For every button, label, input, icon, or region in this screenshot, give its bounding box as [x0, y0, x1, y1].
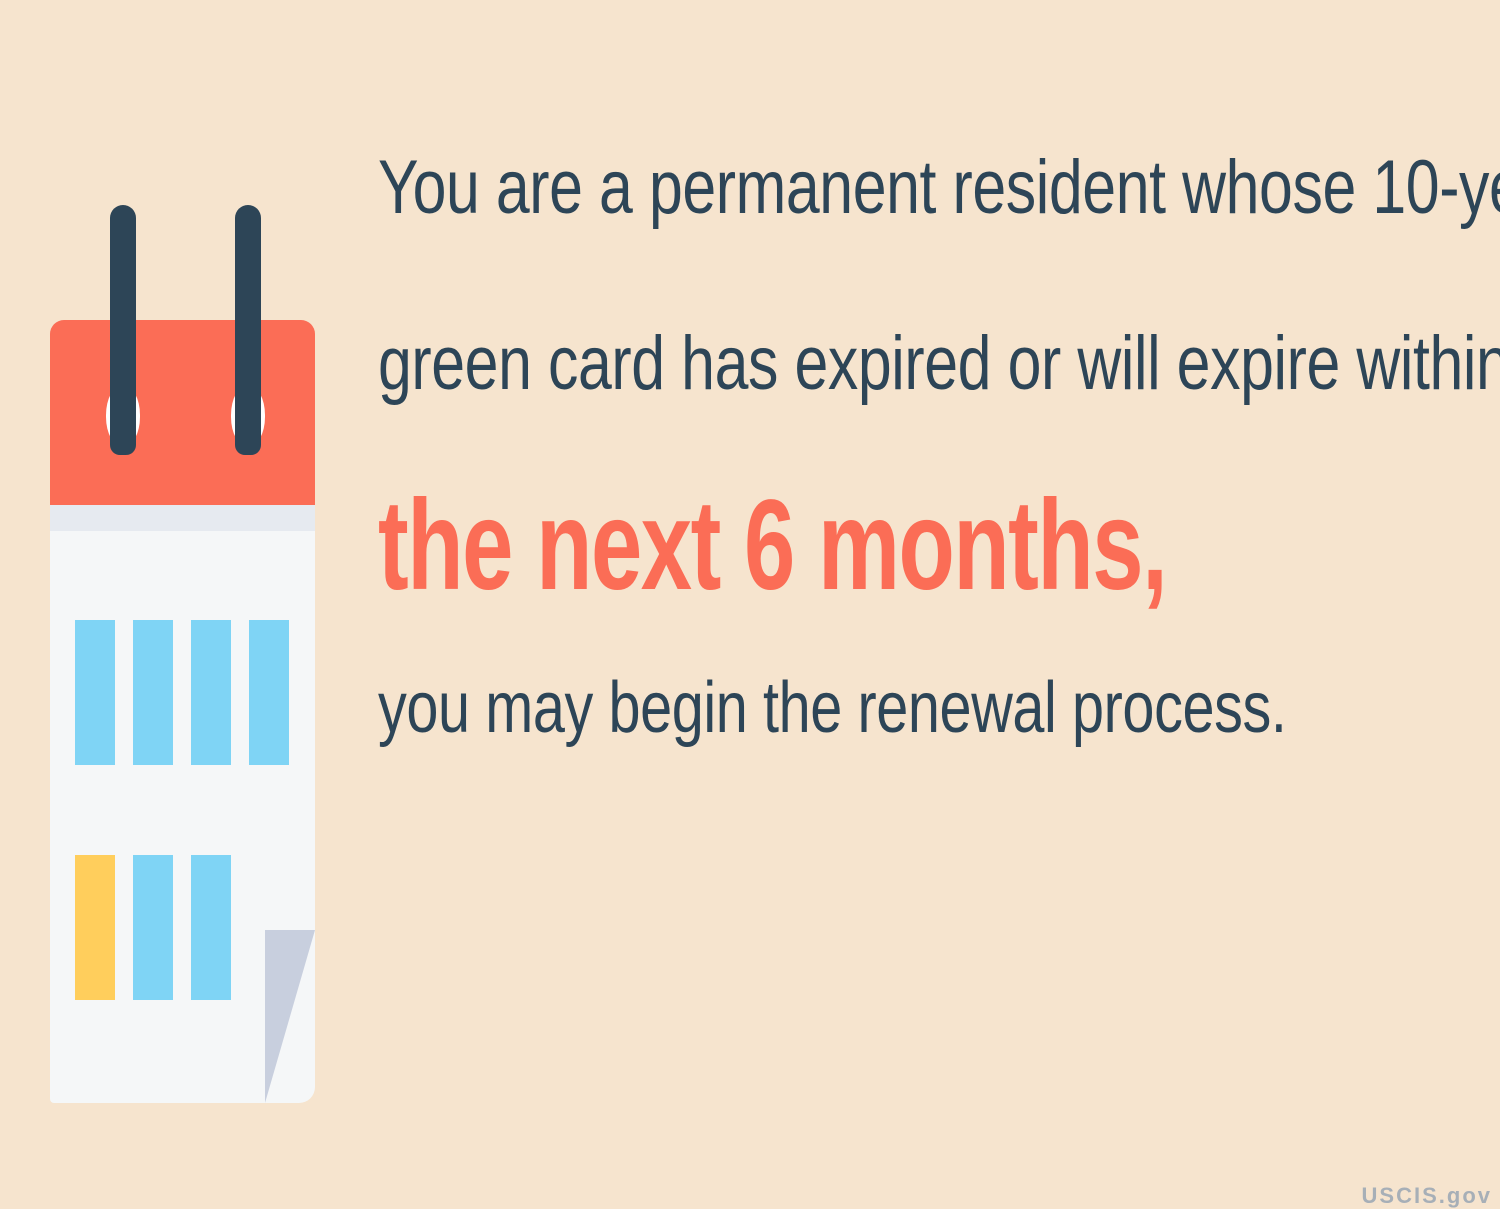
message-text-block: You are a permanent resident whose 10-ye…	[378, 150, 1478, 744]
calendar-icon	[40, 195, 360, 1110]
message-line-1: You are a permanent resident whose 10-ye…	[378, 150, 1258, 226]
watermark-label: USCIS.gov	[1362, 1183, 1492, 1209]
calendar-binder-ring-left	[110, 205, 136, 455]
calendar-bar	[249, 620, 289, 765]
calendar-bar	[191, 855, 231, 1000]
message-line-4: you may begin the renewal process.	[378, 672, 1258, 744]
calendar-binder-ring-right	[235, 205, 261, 455]
calendar-bar-row-top	[75, 620, 289, 765]
calendar-bar	[133, 855, 173, 1000]
calendar-bar	[191, 620, 231, 765]
calendar-bar-row-bottom	[75, 855, 231, 1000]
calendar-bar	[133, 620, 173, 765]
message-highlight: the next 6 months,	[378, 482, 1170, 610]
calendar-bar-highlight	[75, 855, 115, 1000]
calendar-divider-strip	[50, 505, 315, 531]
calendar-header	[50, 320, 315, 505]
message-line-2: green card has expired or will expire wi…	[378, 326, 1258, 402]
calendar-bar	[75, 620, 115, 765]
infographic-card: You are a permanent resident whose 10-ye…	[0, 0, 1500, 1200]
